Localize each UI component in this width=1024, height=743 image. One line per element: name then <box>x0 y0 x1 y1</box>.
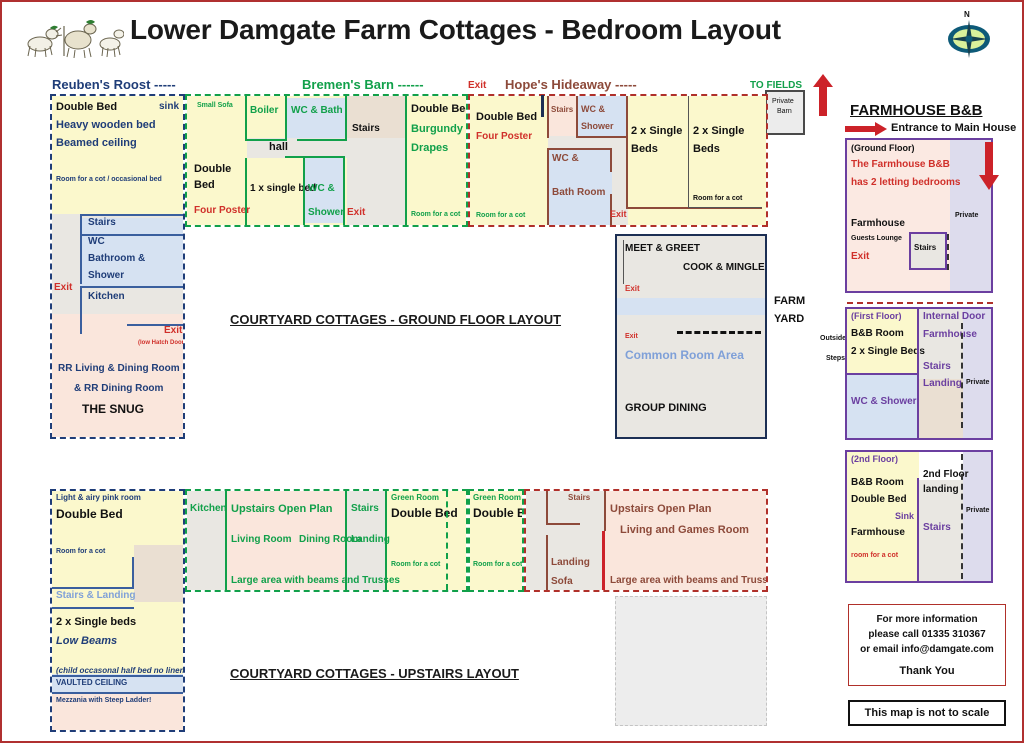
reubens-stairs-label: Stairs <box>88 218 116 229</box>
bremens-drapes-label: Drapes <box>411 143 448 155</box>
hopes-up-wall-1 <box>546 491 548 525</box>
common-exit-top-label: Exit <box>625 285 640 293</box>
farmhouse-section-title: FARMHOUSE B&B <box>850 102 983 119</box>
bremens-double-label-2: Bed <box>194 180 215 192</box>
farmhouse-second-double-bed-label: Double Bed <box>851 495 907 506</box>
farmhouse-first-dash <box>961 323 963 428</box>
hopes-exit-bottom-label: Exit <box>610 210 627 219</box>
farmhouse-first-floor-label: (First Floor) <box>851 312 902 321</box>
farmhouse-second-private-label: Private <box>966 507 989 514</box>
farmhouse-first-farmhouse-label: Farmhouse <box>923 330 977 341</box>
hopes-wall-2 <box>576 96 578 138</box>
bremens-exit-label: Exit <box>347 208 365 219</box>
hopes-exit-top-label: Exit <box>468 80 486 91</box>
private-barn-label-2: Barn <box>777 108 792 115</box>
bremens-up-stairs-label: Stairs <box>351 504 379 515</box>
bremens-up-cot-1-label: Room for a cot <box>391 561 440 568</box>
farmhouse-first-single-beds-label: 2 x Single Beds <box>851 347 925 358</box>
hopes-wall-4 <box>547 148 549 225</box>
upstairs-section-title: COURTYARD COTTAGES - UPSTAIRS LAYOUT <box>230 666 519 681</box>
hopes-up-landing-label: Landing <box>551 558 590 569</box>
hopes-hideaway-ground-block: Double Bed Four Poster Room for a cot St… <box>468 94 768 227</box>
reubens-up-double-bed-label: Double Bed <box>56 508 123 521</box>
ground-floor-section-title: COURTYARD COTTAGES - GROUND FLOOR LAYOUT <box>230 312 561 327</box>
reubens-bathroom-label: Bathroom & <box>88 254 145 265</box>
farmhouse-second-dash <box>961 454 963 579</box>
reubens-up-vaulted-label: VAULTED CEILING <box>56 679 127 687</box>
hopes-up-stairs-label: Stairs <box>568 494 590 502</box>
reubens-double-bed-label: Double Bed <box>56 102 117 114</box>
entrance-down-arrow-icon <box>979 142 999 195</box>
bremens-wcbath-fill <box>287 98 345 138</box>
bremens-wcbath-label: WC & Bath <box>291 106 343 117</box>
thank-you-label: Thank You <box>849 665 1005 677</box>
zone-label-hopes-hideaway: Hope's Hideaway ----- <box>505 77 637 92</box>
bremens-double-bed-label: Double Bed <box>411 104 468 116</box>
green-room-2-cot-label: Room for a cot <box>473 561 522 568</box>
bremens-up-large-area-label: Large area with beams and Trusses <box>231 576 400 587</box>
bremens-upstairs-block: Kitchen Upstairs Open Plan Living Room D… <box>185 489 468 592</box>
farmhouse-second-block: (2nd Floor) B&B Room Double Bed Sink Far… <box>845 450 993 583</box>
farmhouse-ground-floor-label: (Ground Floor) <box>851 144 914 153</box>
zone-label-reubens-roost: Reuben's Roost ----- <box>52 77 176 92</box>
reubens-up-low-beams-label: Low Beams <box>56 636 117 648</box>
farmhouse-first-block: (First Floor) B&B Room 2 x Single Beds W… <box>845 307 993 440</box>
scale-note-box: This map is not to scale <box>848 700 1006 726</box>
private-barn-box: Private Barn <box>765 90 805 135</box>
reubens-snug-label: THE SNUG <box>82 403 144 416</box>
hopes-wc-label-1: WC & <box>581 105 605 114</box>
common-exit-mid-label: Exit <box>625 333 638 340</box>
reubens-up-wall-3 <box>52 607 134 609</box>
farmhouse-second-bb-room-label: B&B Room <box>851 478 904 489</box>
bremens-wall-5 <box>297 139 347 141</box>
farmhouse-second-cot-label: room for a cot <box>851 552 898 559</box>
farmhouse-second-stairs-label: Stairs <box>923 523 951 534</box>
outside-label-1: Outside <box>820 335 846 342</box>
hopes-single-beds-b-1: 2 x Single <box>693 126 744 138</box>
reubens-wall-5 <box>80 288 82 334</box>
green-room-2-block: Green Room 2 Double Bed Room for a cot <box>468 489 524 592</box>
lower-grey-block <box>615 596 767 726</box>
common-corridor-fill <box>617 298 765 315</box>
farmhouse-ground-stairs-label: Stairs <box>914 244 936 252</box>
info-line-3: or email info@damgate.com <box>849 644 1005 655</box>
floorplan-page: Lower Damgate Farm Cottages - Bedroom La… <box>0 0 1024 743</box>
meet-greet-label: MEET & GREET <box>625 244 700 255</box>
bremens-wall-7 <box>245 158 247 225</box>
reubens-hatch-note: (low Hatch Door) <box>138 340 185 346</box>
farmhouse-second-floor-label: (2nd Floor) <box>851 455 898 464</box>
reubens-up-wall-2 <box>52 587 134 589</box>
reubens-shower-label: Shower <box>88 271 124 282</box>
bremens-up-kitchen-label: Kitchen <box>190 504 227 515</box>
reubens-up-wall-5 <box>52 692 183 694</box>
bremens-up-green-room-1-label: Green Room <box>391 494 439 502</box>
reubens-heavy-bed-label: Heavy wooden bed <box>56 120 156 132</box>
guests-lounge-label: Guests Lounge <box>851 235 902 242</box>
hopes-single-beds-b-2: Beds <box>693 144 720 156</box>
hopes-up-sofa-label: Sofa <box>551 577 573 588</box>
hopes-four-poster-label: Four Poster <box>476 132 532 143</box>
farmhouse-first-top-dash <box>847 302 993 304</box>
common-dashed-divider <box>677 331 761 334</box>
hopes-stairs-label: Stairs <box>551 106 573 114</box>
bremens-hall-label: hall <box>269 142 288 154</box>
hopes-wall-3 <box>576 136 628 138</box>
reubens-sink-label: sink <box>159 101 179 112</box>
to-fields-arrow-icon <box>812 74 834 121</box>
reubens-upstairs-block: Light & airy pink room Double Bed Room f… <box>50 489 185 732</box>
bremens-boiler-label: Boiler <box>250 106 278 117</box>
hopes-stairs-fill <box>548 96 578 136</box>
hopes-navy-edge <box>541 95 544 117</box>
hopes-single-beds-a-2: Beds <box>631 144 658 156</box>
farmhouse-first-bb-room-label: B&B Room <box>851 329 904 340</box>
hopes-bath-label-1: WC & <box>552 154 579 165</box>
hopes-up-wall-4 <box>602 531 605 590</box>
hopes-wall-8 <box>626 96 628 209</box>
farmhouse-label: Farmhouse <box>851 219 905 230</box>
bremens-barn-ground-block: Small Sofa Double Bed Four Poster Boiler… <box>185 94 468 227</box>
cook-mingle-label: COOK & MINGLE <box>683 263 765 274</box>
farmhouse-second-landing-label-2: landing <box>923 485 959 496</box>
hopes-up-wall-5 <box>604 491 606 531</box>
hopes-wall-11 <box>688 207 762 208</box>
farmhouse-ground-private-label: Private <box>955 212 978 219</box>
hopes-cot-b-label: Room for a cot <box>693 195 742 202</box>
zone-label-bremens-barn: Bremen's Barn ------ <box>302 77 424 92</box>
reubens-cot-label: Room for a cot / occasional bed <box>56 176 162 183</box>
reubens-wall-3 <box>80 216 82 284</box>
green-room-2-label: Green Room 2 <box>473 494 524 502</box>
bremens-wc-label-1: WC & <box>308 184 335 195</box>
bremens-up-dash <box>446 491 448 590</box>
hopes-up-wall-3 <box>546 535 548 590</box>
reubens-exit-left-label: Exit <box>54 282 72 293</box>
bremens-wall-6 <box>285 156 345 158</box>
bremens-wall-1 <box>245 96 247 141</box>
reubens-wc-label: WC <box>88 237 105 248</box>
farmhouse-ground-block: (Ground Floor) The Farmhouse B&B has 2 l… <box>845 138 993 293</box>
hopes-single-beds-a-1: 2 x Single <box>631 126 682 138</box>
farmhouse-first-landing-label: Landing <box>923 379 962 390</box>
hopes-wall-5 <box>547 148 611 150</box>
farmhouse-first-stairs-label: Stairs <box>923 362 951 373</box>
private-barn-label-1: Private <box>772 98 794 105</box>
farm-yard-label-1: FARM <box>774 295 805 307</box>
bremens-single-bed-label: 1 x single bed <box>250 184 316 195</box>
hopes-cot-label: Room for a cot <box>476 212 525 219</box>
farmhouse-second-wall-1 <box>917 478 919 581</box>
bremens-wall-2 <box>285 96 287 141</box>
reubens-up-single-beds-label: 2 x Single beds <box>56 617 136 629</box>
reubens-beamed-ceiling-label: Beamed ceiling <box>56 138 137 150</box>
hopes-up-wall-2 <box>546 523 580 525</box>
compass-rose-icon <box>946 16 992 62</box>
bremens-wall-10 <box>405 96 407 225</box>
farmhouse-internal-door-label: Internal Door <box>923 312 985 323</box>
farmhouse-note-2: has 2 letting bedrooms <box>851 178 960 189</box>
reubens-up-stairs-fill-2 <box>134 596 183 602</box>
hopes-wall-1 <box>547 96 549 138</box>
farmhouse-second-sink-label: Sink <box>895 512 914 521</box>
farmhouse-exit-label: Exit <box>851 252 869 263</box>
hopes-upstairs-block: Stairs Landing Sofa Upstairs Open Plan L… <box>524 489 768 592</box>
info-line-2: please call 01335 310367 <box>849 629 1005 640</box>
reubens-up-wall-4 <box>52 675 183 677</box>
page-title: Lower Damgate Farm Cottages - Bedroom La… <box>130 14 850 46</box>
hopes-up-open-plan-1: Upstairs Open Plan <box>610 504 711 516</box>
hopes-wall-10 <box>688 96 689 208</box>
bremens-four-poster-label: Four Poster <box>194 206 250 217</box>
entrance-main-house-label: Entrance to Main House <box>891 122 1016 134</box>
not-to-scale-label: This map is not to scale <box>850 707 1004 719</box>
info-line-1: For more information <box>849 614 1005 625</box>
contact-info-box: For more information please call 01335 3… <box>848 604 1006 686</box>
group-dining-label: GROUP DINING <box>625 403 707 415</box>
farmhouse-first-wall-2 <box>917 309 919 438</box>
common-room-block: MEET & GREET COOK & MINGLE Exit Exit Com… <box>615 234 767 439</box>
hopes-double-bed-label: Double Bed <box>476 112 537 124</box>
bremens-up-wall-1 <box>225 491 227 590</box>
reubens-dining-room-label: & RR Dining Room <box>74 384 163 395</box>
bremens-burgundy-label: Burgundy <box>411 124 463 136</box>
reubens-up-mezzania-label: Mezzania with Steep Ladder! <box>56 697 151 704</box>
reubens-up-wall-1 <box>132 557 134 589</box>
reubens-bedroom-fill <box>52 96 183 214</box>
bremens-double-label-1: Double <box>194 164 231 176</box>
bremens-wall-8 <box>303 158 305 225</box>
farmhouse-note-1: The Farmhouse B&B <box>851 160 950 171</box>
hopes-up-open-plan-2: Living and Games Room <box>620 525 749 537</box>
hopes-bath-label-2: Bath Room <box>552 188 605 199</box>
farmhouse-first-private-label: Private <box>966 379 989 386</box>
hopes-up-large-area-label: Large area with beams and Trusses <box>610 576 768 587</box>
farm-yard-label-2: YARD <box>774 313 804 325</box>
green-room-2-double-bed-label: Double Bed <box>473 507 524 520</box>
reubens-wall-1 <box>80 214 183 216</box>
farmhouse-first-wall-1 <box>847 373 919 375</box>
bremens-stairs-label: Stairs <box>352 124 380 135</box>
hopes-wc-label-2: Shower <box>581 122 614 131</box>
reubens-exit-hatch-label: Exit <box>164 326 182 337</box>
bremens-up-open-plan-label: Upstairs Open Plan <box>231 504 332 516</box>
reubens-roost-ground-block: Double Bed Heavy wooden bed Beamed ceili… <box>50 94 185 439</box>
bremens-up-wall-2 <box>345 491 347 590</box>
bremens-up-wall-3 <box>385 491 387 590</box>
bremens-wc-label-2: Shower <box>308 208 344 219</box>
bremens-up-living-room-label: Living Room <box>231 535 292 546</box>
outside-label-2: Steps <box>826 355 845 362</box>
bremens-wall-4 <box>345 96 347 141</box>
farmhouse-stairs-box: Stairs <box>909 232 947 270</box>
hopes-wall-6 <box>610 148 612 172</box>
reubens-up-cot-label: Room for a cot <box>56 548 105 555</box>
farmhouse-ground-dash <box>947 234 949 270</box>
reubens-up-stairs-landing-label: Stairs & Landing <box>56 591 135 602</box>
common-wall-1 <box>623 240 624 284</box>
common-room-area-label: Common Room Area <box>625 349 744 362</box>
bremens-cot-label: Room for a cot <box>411 211 460 218</box>
reubens-up-stairs-fill <box>134 545 183 596</box>
reubens-kitchen-label: Kitchen <box>88 292 125 303</box>
bremens-small-sofa-label: Small Sofa <box>197 102 233 109</box>
reubens-living-dining-label: RR Living & Dining Room <box>58 364 180 375</box>
farmhouse-second-farmhouse-label: Farmhouse <box>851 528 905 539</box>
farm-animals-icon <box>20 16 124 60</box>
farmhouse-first-wc-label: WC & Shower <box>851 397 917 408</box>
reubens-wall-4 <box>80 286 183 288</box>
reubens-up-light-airy-label: Light & airy pink room <box>56 494 141 502</box>
